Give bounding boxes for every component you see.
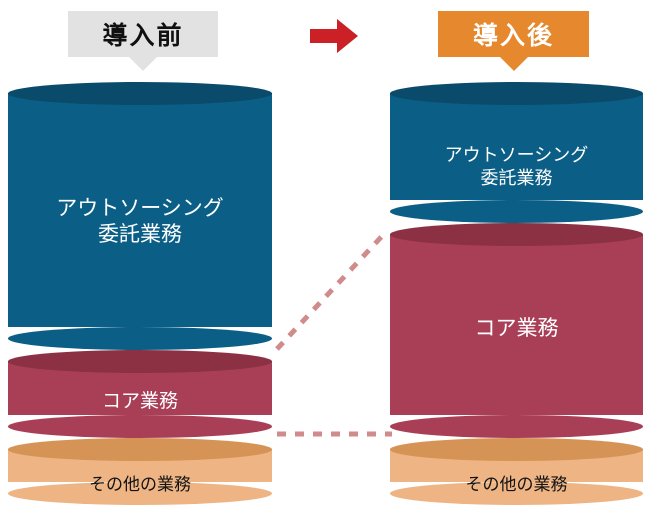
diagram-canvas: 導入前 導入後 その他の業務 コア業務 アウトソーシング 委託業務 [0,0,661,520]
cylinder-body [390,234,643,415]
cylinder-bottom-cap [390,415,643,438]
cylinder-bottom-cap [8,327,272,350]
label-before-pointer-icon [129,57,157,71]
cylinder-bottom-cap [8,415,272,438]
cylinder-body [390,93,643,200]
cylinder-body [8,93,272,327]
cylinder-top-cap [390,82,643,105]
cylinder-top-cap [8,82,272,105]
cylinder-top-cap [390,223,643,246]
after-segment-outsourcing: アウトソーシング 委託業務 [390,82,643,223]
right-arrow-icon [310,19,358,53]
before-segment-other: その他の業務 [8,438,272,505]
before-segment-outsourcing: アウトソーシング 委託業務 [8,82,272,350]
after-segment-core: コア業務 [390,223,643,438]
cylinder-bottom-cap [390,200,643,223]
connector-lines [270,225,395,440]
label-before: 導入前 [68,11,218,57]
connector-diagonal [277,234,384,349]
cylinder-top-cap [8,438,272,461]
cylinder-top-cap [390,438,643,461]
label-after: 導入後 [438,11,589,57]
label-after-text: 導入後 [473,16,554,52]
label-after-pointer-icon [500,57,528,71]
cylinder-top-cap [8,350,272,373]
after-segment-other: その他の業務 [390,438,643,505]
before-segment-core: コア業務 [8,350,272,438]
cylinder-bottom-cap [390,482,643,505]
label-before-text: 導入前 [102,16,183,52]
cylinder-bottom-cap [8,482,272,505]
